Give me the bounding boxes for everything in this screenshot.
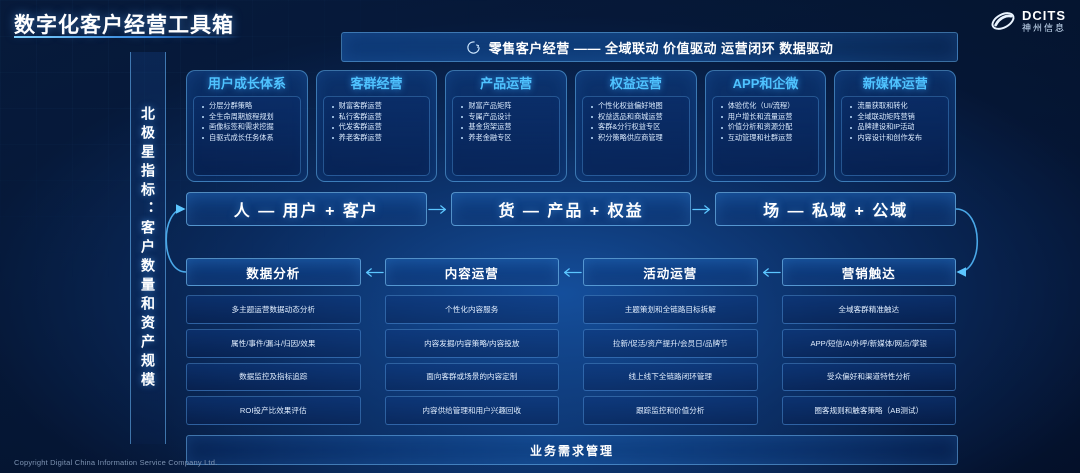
refresh-cycle-icon [466,40,481,55]
capability-card-body: 财富客群运营私行客群运营代发客群运营养老客群运营 [323,96,431,176]
capability-card[interactable]: 客群经营财富客群运营私行客群运营代发客群运营养老客群运营 [316,70,438,182]
detail-cell[interactable]: 面向客群或场景的内容定制 [385,363,560,392]
capability-card-title: APP和企微 [733,75,799,93]
logo-english-text: DCITS [1022,9,1066,22]
operation-section-header-row: 数据分析内容运营活动运营营销触达 [186,259,956,285]
slide-canvas: 数字化客户经营工具箱 DCITS 神州信息 北极星指标：客户数量和资产规模 零售… [0,0,1080,473]
capability-card[interactable]: 用户成长体系分层分群策略全生命周期旅程规划画像标签和需求挖掘自驱式成长任务体系 [186,70,308,182]
detail-cell[interactable]: 主题策划和全链路目标拆解 [583,295,758,324]
capability-card-row: 用户成长体系分层分群策略全生命周期旅程规划画像标签和需求挖掘自驱式成长任务体系客… [186,70,956,182]
section-header-label: 营销触达 [842,263,896,282]
capability-card-item: 画像标签和需求挖掘 [197,122,297,133]
capability-card-item: 私行客群运营 [327,112,427,123]
logo-chinese-text: 神州信息 [1022,24,1066,33]
detail-cell[interactable]: 线上线下全链路闭环管理 [583,363,758,392]
detail-cell[interactable]: ROI投产比效果评估 [186,396,361,425]
capability-card-item: 内容设计和创作发布 [845,133,945,144]
section-header-label: 数据分析 [246,263,300,282]
chain-box-label: 人 — 用户 + 客户 [234,197,379,221]
section-header[interactable]: 活动运营 [583,258,758,286]
capability-card-title: 用户成长体系 [208,75,286,93]
bottom-bar: 业务需求管理 [186,435,958,465]
detail-cell[interactable]: 受众偏好和渠道特性分析 [782,363,957,392]
chain-arrow [427,204,451,215]
north-star-label-text: 北极星指标：客户数量和资产规模 [138,106,158,391]
section-header[interactable]: 内容运营 [385,258,560,286]
arrow-left-icon [560,267,582,278]
capability-card-body: 分层分群策略全生命周期旅程规划画像标签和需求挖掘自驱式成长任务体系 [193,96,301,176]
top-banner: 零售客户经营 —— 全域联动 价值驱动 运营闭环 数据驱动 [341,32,958,62]
chain-box[interactable]: 人 — 用户 + 客户 [186,192,427,226]
capability-card[interactable]: 新媒体运营流量获取和转化全域联动矩阵营销品牌建设和IP活动内容设计和创作发布 [834,70,956,182]
chain-box-label: 货 — 产品 + 权益 [498,197,643,221]
section-header-label: 活动运营 [643,263,697,282]
north-star-vertical-label: 北极星指标：客户数量和资产规模 [130,52,166,444]
detail-cell[interactable]: 内容供给管理和用户兴趣回收 [385,396,560,425]
left-loop-arrow [166,209,186,272]
capability-card-item: 品牌建设和IP活动 [845,122,945,133]
brand-logo: DCITS 神州信息 [990,8,1066,34]
capability-card[interactable]: APP和企微体验优化（UI/流程）用户增长和流量运营价值分析和资源分配互动管理和… [705,70,827,182]
capability-card-item: 基金货架运营 [456,122,556,133]
capability-card-item: 流量获取和转化 [845,101,945,112]
capability-card[interactable]: 产品运营财富产品矩阵专属产品设计基金货架运营养老金融专区 [445,70,567,182]
capability-card-item: 客群&分行权益专区 [586,122,686,133]
capability-card-item: 专属产品设计 [456,112,556,123]
operation-detail-grid: 多主题运营数据动态分析属性/事件/漏斗/归因/效果数据监控及指标追踪ROI投产比… [186,295,956,425]
detail-cell[interactable]: 跟踪监控和价值分析 [583,396,758,425]
detail-column: 多主题运营数据动态分析属性/事件/漏斗/归因/效果数据监控及指标追踪ROI投产比… [186,295,361,425]
dcits-swirl-icon [990,8,1016,34]
capability-card-item: 养老金融专区 [456,133,556,144]
capability-card-body: 财富产品矩阵专属产品设计基金货架运营养老金融专区 [452,96,560,176]
capability-card-item: 积分策略供应商管理 [586,133,686,144]
chain-box[interactable]: 场 — 私域 + 公域 [715,192,956,226]
section-arrow [361,267,385,278]
detail-cell[interactable]: 内容发掘/内容策略/内容投放 [385,329,560,358]
capability-card-item: 用户增长和流量运营 [716,112,816,123]
capability-card[interactable]: 权益运营个性化权益偏好地图权益选品和商城运营客群&分行权益专区积分策略供应商管理 [575,70,697,182]
section-header[interactable]: 营销触达 [782,258,957,286]
capability-card-item: 分层分群策略 [197,101,297,112]
capability-card-body: 体验优化（UI/流程）用户增长和流量运营价值分析和资源分配互动管理和社群运营 [712,96,820,176]
section-header-label: 内容运营 [445,263,499,282]
chain-arrow [691,204,715,215]
capability-card-item: 权益选品和商城运营 [586,112,686,123]
chain-box-label: 场 — 私域 + 公域 [763,197,908,221]
copyright-text: Copyright Digital China Information Serv… [14,458,217,467]
capability-card-body: 个性化权益偏好地图权益选品和商城运营客群&分行权益专区积分策略供应商管理 [582,96,690,176]
detail-cell[interactable]: 属性/事件/漏斗/归因/效果 [186,329,361,358]
page-title: 数字化客户经营工具箱 [14,9,234,39]
detail-column: 全域客群精准触达APP/短信/AI外呼/新媒体/网点/掌银受众偏好和渠道特性分析… [782,295,957,425]
capability-card-item: 个性化权益偏好地图 [586,101,686,112]
capability-card-item: 全生命周期旅程规划 [197,112,297,123]
title-underline [14,36,242,38]
arrow-left-icon [362,267,384,278]
capability-card-title: 产品运营 [480,75,532,93]
detail-cell[interactable]: 拉新/促活/资产提升/会员日/品牌节 [583,329,758,358]
arrow-left-icon [759,267,781,278]
detail-cell[interactable]: APP/短信/AI外呼/新媒体/网点/掌银 [782,329,957,358]
capability-card-item: 养老客群运营 [327,133,427,144]
right-loop-arrow [956,209,977,272]
detail-column: 个性化内容服务内容发掘/内容策略/内容投放面向客群或场景的内容定制内容供给管理和… [385,295,560,425]
capability-card-item: 互动管理和社群运营 [716,133,816,144]
detail-cell[interactable]: 多主题运营数据动态分析 [186,295,361,324]
bottom-bar-text: 业务需求管理 [530,442,614,459]
capability-card-item: 体验优化（UI/流程） [716,101,816,112]
section-arrow [758,267,782,278]
capability-card-body: 流量获取和转化全域联动矩阵营销品牌建设和IP活动内容设计和创作发布 [841,96,949,176]
capability-card-title: 权益运营 [610,75,662,93]
capability-card-item: 代发客群运营 [327,122,427,133]
capability-card-item: 全域联动矩阵营销 [845,112,945,123]
capability-card-title: 新媒体运营 [863,75,928,93]
capability-card-item: 财富客群运营 [327,101,427,112]
section-arrow [559,267,583,278]
detail-cell[interactable]: 全域客群精准触达 [782,295,957,324]
detail-cell[interactable]: 数据监控及指标追踪 [186,363,361,392]
capability-card-item: 自驱式成长任务体系 [197,133,297,144]
chain-box[interactable]: 货 — 产品 + 权益 [451,192,692,226]
capability-card-item: 价值分析和资源分配 [716,122,816,133]
capability-card-title: 客群经营 [351,75,403,93]
arrow-right-icon [692,204,714,215]
section-header[interactable]: 数据分析 [186,258,361,286]
detail-column: 主题策划和全链路目标拆解拉新/促活/资产提升/会员日/品牌节线上线下全链路闭环管… [583,295,758,425]
detail-cell[interactable]: 个性化内容服务 [385,295,560,324]
arrow-right-icon [428,204,450,215]
banner-text: 零售客户经营 —— 全域联动 价值驱动 运营闭环 数据驱动 [489,38,834,57]
value-chain-row: 人 — 用户 + 客户货 — 产品 + 权益场 — 私域 + 公域 [186,193,956,225]
capability-card-item: 财富产品矩阵 [456,101,556,112]
detail-cell[interactable]: 圈客规则和触客策略（AB测试） [782,396,957,425]
